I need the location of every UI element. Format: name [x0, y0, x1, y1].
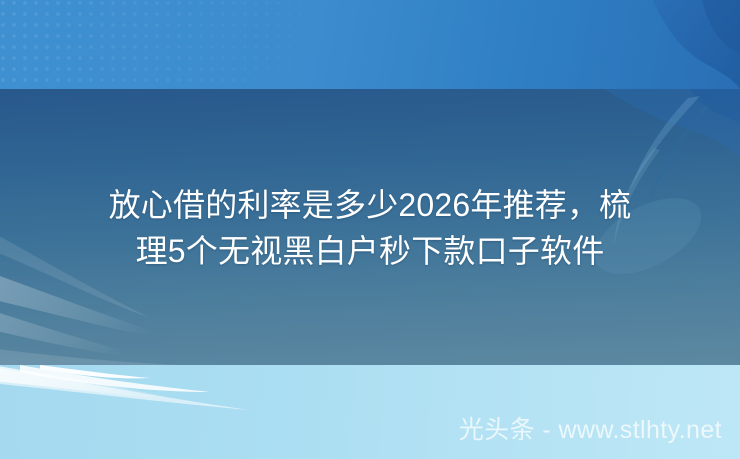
article-banner: 放心借的利率是多少2026年推荐，梳 理5个无视黑白户秒下款口子软件 光头条 -…	[0, 0, 740, 459]
top-blue-band	[0, 0, 740, 89]
site-watermark: 光头条 - www.stlhty.net	[459, 415, 722, 445]
headline-line-1: 放心借的利率是多少2026年推荐，梳	[0, 182, 740, 228]
headline-line-2: 理5个无视黑白户秒下款口子软件	[0, 228, 740, 274]
dot-grid-texture	[0, 0, 340, 89]
banner-headline: 放心借的利率是多少2026年推荐，梳 理5个无视黑白户秒下款口子软件	[0, 182, 740, 274]
